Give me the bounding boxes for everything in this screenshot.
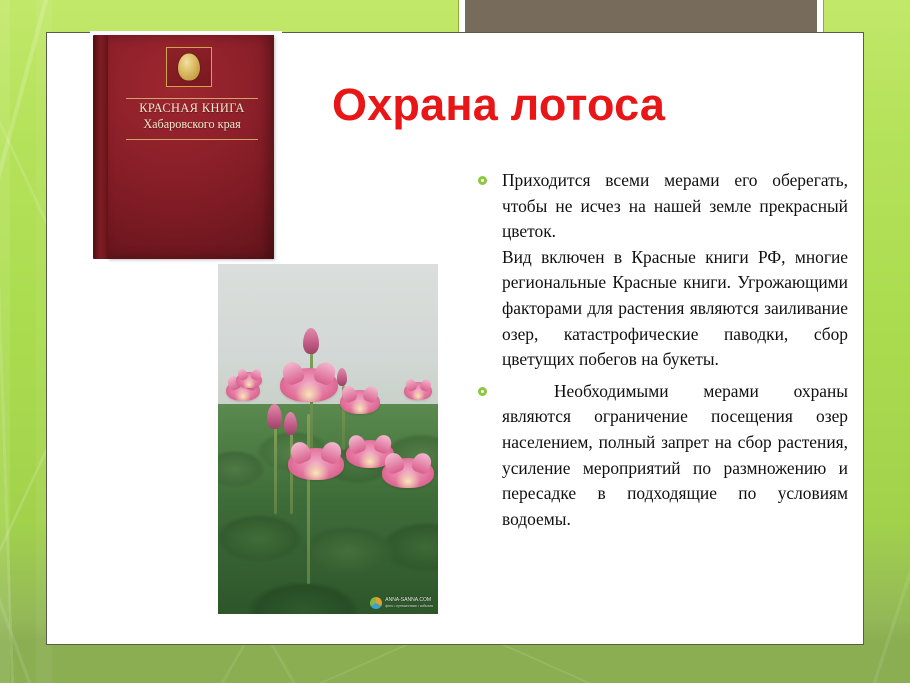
list-item: Приходится всеми мерами его оберегать, ч…	[476, 168, 848, 373]
lotus-bud	[284, 412, 297, 435]
photo-watermark: ANNA-SANNA.COM фото • путешествия • собы…	[370, 597, 433, 609]
lotus-field-photo: ANNA-SANNA.COM фото • путешествия • собы…	[218, 264, 438, 614]
lotus-bloom	[280, 368, 338, 402]
ring-bullet-icon	[478, 176, 487, 185]
lotus-bloom	[288, 448, 344, 480]
photo-lotus-leaves	[218, 404, 438, 614]
lotus-bloom	[236, 372, 262, 388]
lotus-bud	[267, 404, 282, 429]
coat-of-arms-icon	[166, 47, 212, 87]
lotus-stem	[310, 348, 313, 460]
slide-title: Охрана лотоса	[332, 79, 832, 131]
lotus-bloom	[340, 390, 380, 414]
presentation-slide: КРАСНАЯ КНИГА Хабаровского края Охрана л…	[0, 0, 910, 683]
watermark-subtitle: фото • путешествия • события	[385, 603, 433, 609]
ring-bullet-icon	[478, 387, 487, 396]
lotus-stem	[307, 414, 310, 584]
book-rule-top	[126, 98, 258, 99]
lotus-bloom	[404, 382, 432, 400]
lotus-bloom	[382, 458, 434, 488]
bullet-paragraph: Приходится всеми мерами его оберегать, ч…	[502, 168, 848, 245]
lotus-bud	[337, 368, 347, 386]
book-front-face: КРАСНАЯ КНИГА Хабаровского края	[108, 35, 274, 259]
red-book-cover-image: КРАСНАЯ КНИГА Хабаровского края	[90, 31, 282, 262]
bullet-paragraph: Вид включен в Красные книги РФ, многие р…	[502, 245, 848, 373]
book-cover-title-line2: Хабаровского края	[122, 117, 262, 131]
list-item: Необходимыми мерами охраны являются огра…	[476, 379, 848, 533]
slide-body-list: Приходится всеми мерами его оберегать, ч…	[476, 168, 848, 538]
lotus-bud	[303, 328, 319, 354]
lotus-stem	[274, 424, 277, 514]
book-rule-bottom	[126, 139, 258, 140]
watermark-logo-icon	[370, 597, 382, 609]
book-cover-title-line1: КРАСНАЯ КНИГА	[122, 101, 262, 116]
book-cover-title: КРАСНАЯ КНИГА Хабаровского края	[122, 101, 262, 131]
bullet-paragraph: Необходимыми мерами охраны являются огра…	[502, 379, 848, 533]
watermark-text: ANNA-SANNA.COM фото • путешествия • собы…	[385, 597, 433, 609]
